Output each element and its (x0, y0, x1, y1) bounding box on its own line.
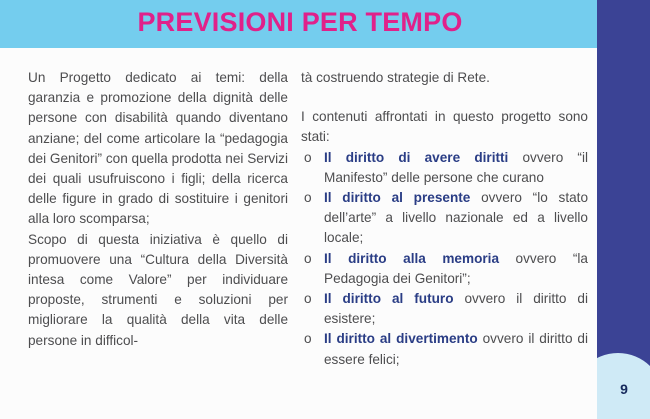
list-item: o Il diritto di avere diritti ovvero “il… (301, 148, 588, 188)
list-item-title: Il diritto di avere diritti (324, 150, 508, 165)
list-item-title: Il diritto al presente (324, 190, 470, 205)
page-number: 9 (612, 381, 636, 397)
bullet-marker: o (304, 188, 312, 208)
list-item: o Il diritto al divertimento ovvero il d… (301, 329, 588, 369)
page-title: PREVISIONI PER TEMPO (0, 0, 600, 48)
list-item-title: Il diritto alla memoria (324, 251, 499, 266)
right-continuation-text: tà costruendo strategie di Rete. (301, 68, 588, 88)
list-item: o Il diritto al futuro ovvero il diritto… (301, 289, 588, 329)
left-column: Un Progetto dedicato ai temi: della gara… (0, 68, 296, 419)
right-intro-text: I contenuti affrontati in questo progett… (301, 107, 588, 147)
list-item-title: Il diritto al divertimento (324, 331, 478, 346)
list-item: o Il diritto alla memoria ovvero “la Ped… (301, 249, 588, 289)
right-column: tà costruendo strategie di Rete. I conte… (296, 68, 600, 419)
left-paragraph-2: Scopo di questa iniziativa è quello di p… (28, 230, 288, 351)
list-item-title: Il diritto al futuro (324, 291, 454, 306)
bullet-marker: o (304, 289, 312, 309)
rights-list: o Il diritto di avere diritti ovvero “il… (301, 148, 588, 370)
content-columns: Un Progetto dedicato ai temi: della gara… (0, 48, 600, 419)
bullet-marker: o (304, 329, 312, 349)
page-canvas: PREVISIONI PER TEMPO 9 Un Progetto dedic… (0, 0, 650, 419)
header-band: PREVISIONI PER TEMPO (0, 0, 600, 48)
left-paragraph-1: Un Progetto dedicato ai temi: della gara… (28, 68, 288, 230)
list-item: o Il diritto al presente ovvero “lo stat… (301, 188, 588, 249)
side-rail: 9 (597, 0, 650, 419)
bullet-marker: o (304, 148, 312, 168)
bullet-marker: o (304, 249, 312, 269)
